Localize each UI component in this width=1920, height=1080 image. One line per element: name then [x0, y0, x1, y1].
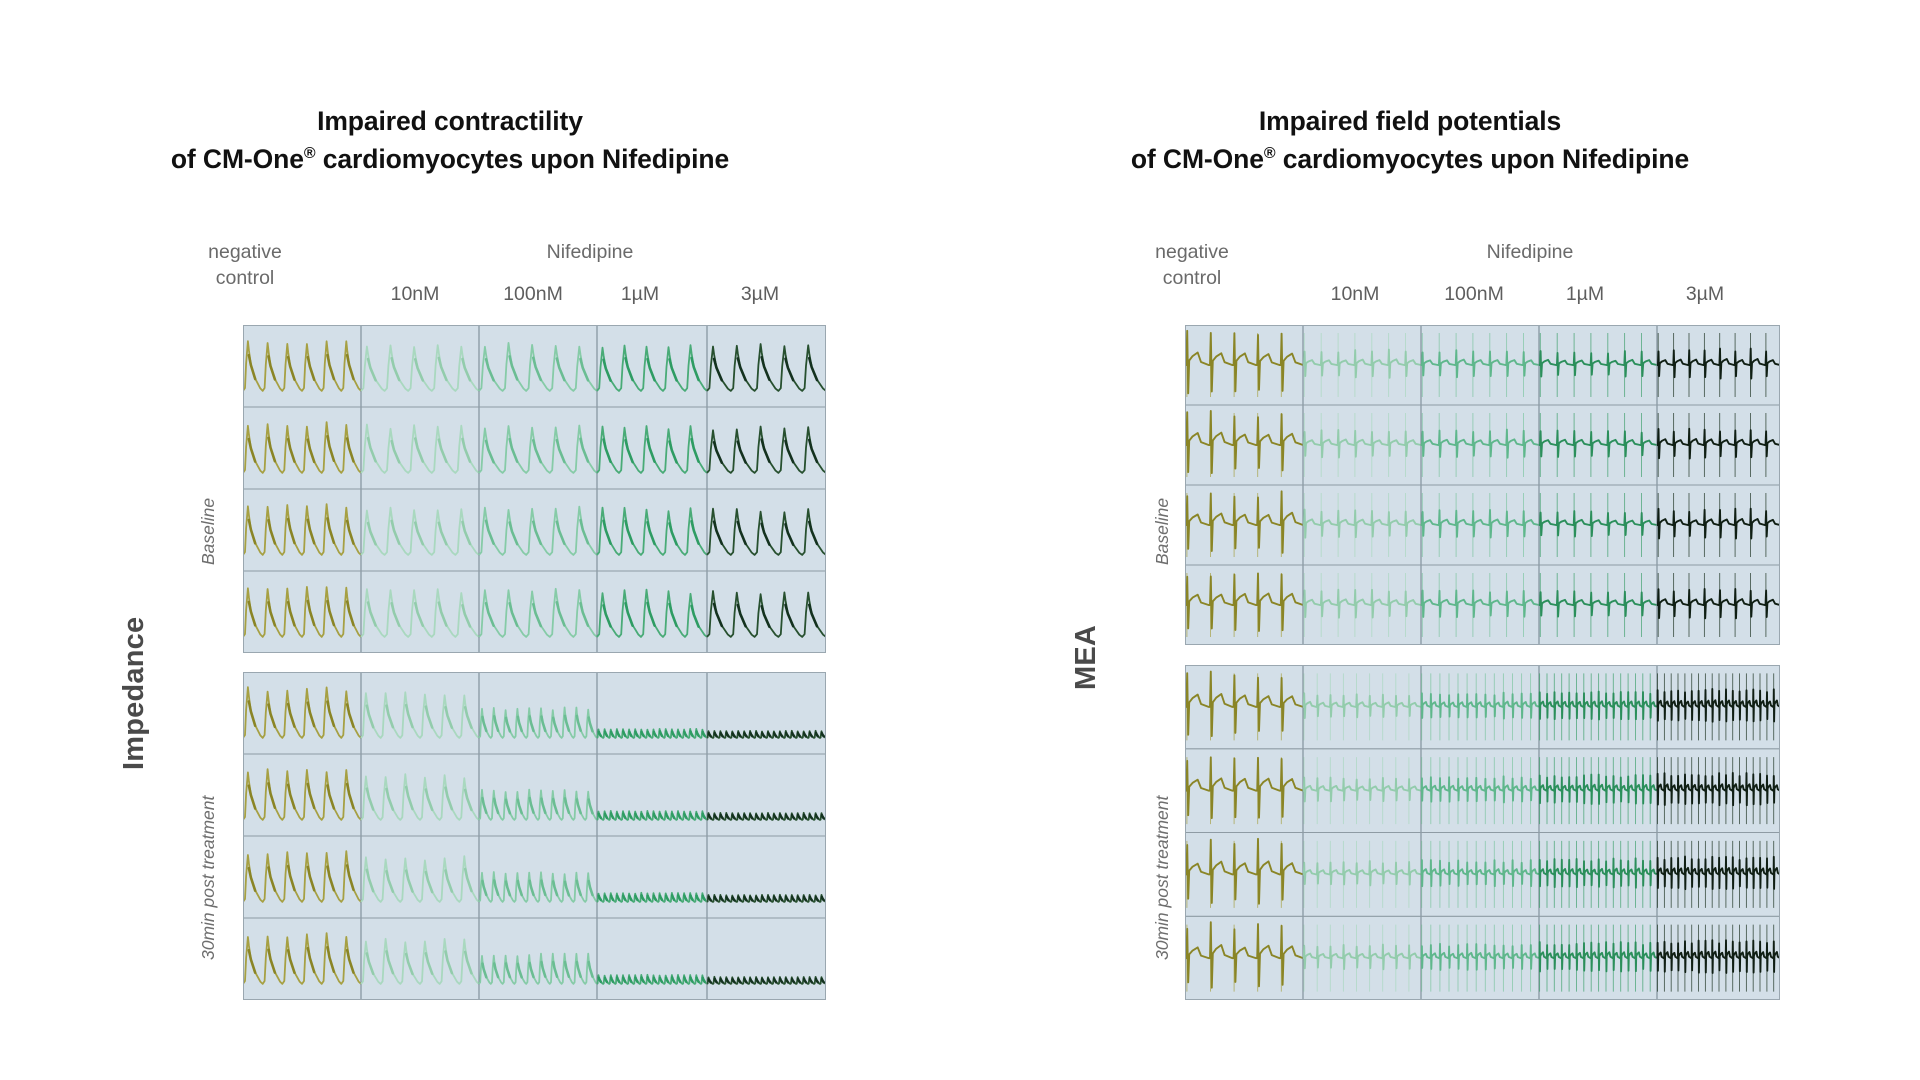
header-dose-1um: 1µM	[580, 283, 700, 306]
header-dose-3um: 3µM	[1645, 283, 1765, 306]
axis-label-mea: MEA	[1070, 530, 1103, 690]
panel-impedance: Impaired contractility of CM-One® cardio…	[0, 0, 900, 1080]
title-tail: cardiomyocytes upon Nifedipine	[316, 144, 730, 174]
header-negative-line2: control	[185, 266, 305, 292]
header-negative-line1: negative	[185, 240, 305, 266]
header-nifedipine-group: Nifedipine	[500, 240, 680, 266]
title-line-2: of CM-One® cardiomyocytes upon Nifedipin…	[900, 141, 1920, 179]
title-tail: cardiomyocytes upon Nifedipine	[1276, 144, 1690, 174]
header-dose-100nm: 100nM	[1414, 283, 1534, 306]
trace-block-impedance-post	[243, 672, 826, 1000]
title-line-1: Impaired field potentials	[900, 103, 1920, 141]
header-dose-100nm: 100nM	[473, 283, 593, 306]
title-line-2: of CM-One® cardiomyocytes upon Nifedipin…	[0, 141, 900, 179]
registered-icon: ®	[304, 145, 316, 162]
trace-block-impedance-baseline	[243, 325, 826, 653]
figure-root: Impaired contractility of CM-One® cardio…	[0, 0, 1920, 1080]
title-brand: of CM-One	[1131, 144, 1264, 174]
header-dose-1um: 1µM	[1525, 283, 1645, 306]
header-negative-line2: control	[1132, 266, 1252, 292]
header-negative-control: negative control	[185, 240, 305, 291]
row-label-baseline: Baseline	[1152, 415, 1173, 565]
title-brand: of CM-One	[171, 144, 304, 174]
registered-icon: ®	[1264, 145, 1276, 162]
row-label-post-treatment: 30min post treatment	[1152, 700, 1173, 960]
header-dose-3um: 3µM	[700, 283, 820, 306]
trace-block-mea-baseline	[1185, 325, 1780, 645]
panel-title-mea: Impaired field potentials of CM-One® car…	[900, 103, 1920, 178]
header-nifedipine-group: Nifedipine	[1440, 240, 1620, 266]
row-label-baseline: Baseline	[198, 415, 219, 565]
panel-mea: Impaired field potentials of CM-One® car…	[900, 0, 1920, 1080]
header-negative-line1: negative	[1132, 240, 1252, 266]
header-dose-10nm: 10nM	[355, 283, 475, 306]
trace-block-mea-post	[1185, 665, 1780, 1000]
header-dose-10nm: 10nM	[1295, 283, 1415, 306]
title-line-1: Impaired contractility	[0, 103, 900, 141]
panel-title-impedance: Impaired contractility of CM-One® cardio…	[0, 103, 900, 178]
header-negative-control: negative control	[1132, 240, 1252, 291]
axis-label-impedance: Impedance	[118, 540, 151, 770]
row-label-post-treatment: 30min post treatment	[198, 700, 219, 960]
